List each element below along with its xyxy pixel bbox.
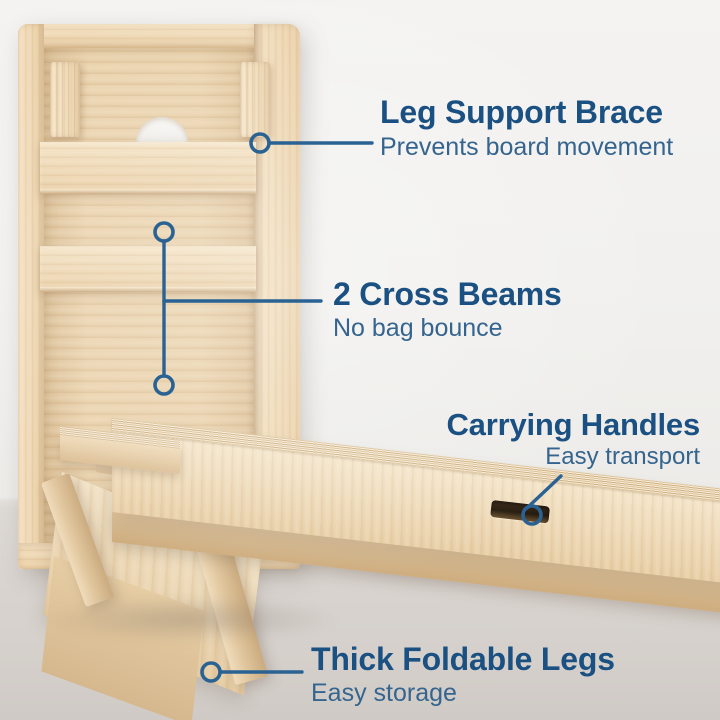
callout-subtitle: Prevents board movement	[380, 133, 673, 161]
leg-support-brace-left	[50, 62, 80, 137]
callout-carrying-handles: Carrying Handles Easy transport	[447, 409, 701, 471]
callout-subtitle: Easy transport	[447, 444, 701, 471]
callout-title: Leg Support Brace	[380, 96, 673, 129]
callout-title: Carrying Handles	[447, 409, 701, 441]
cross-beam-upper-edge	[40, 189, 256, 194]
callout-subtitle: No bag bounce	[333, 314, 562, 342]
callout-leg-support-brace: Leg Support Brace Prevents board movemen…	[380, 96, 673, 161]
callout-title: Thick Foldable Legs	[311, 643, 615, 676]
callout-subtitle: Easy storage	[311, 679, 615, 707]
leg-support-brace-right	[240, 62, 270, 137]
board-rail-left	[18, 24, 44, 569]
callout-title: 2 Cross Beams	[333, 278, 562, 311]
infographic-canvas: Leg Support Brace Prevents board movemen…	[0, 0, 720, 720]
legs-contact-shadow	[40, 596, 340, 642]
cross-beam-lower-edge	[40, 287, 256, 292]
callout-thick-foldable-legs: Thick Foldable Legs Easy storage	[311, 643, 615, 707]
cross-beam-lower	[40, 246, 256, 292]
cross-beam-upper	[40, 142, 256, 194]
callout-cross-beams: 2 Cross Beams No bag bounce	[333, 278, 562, 342]
